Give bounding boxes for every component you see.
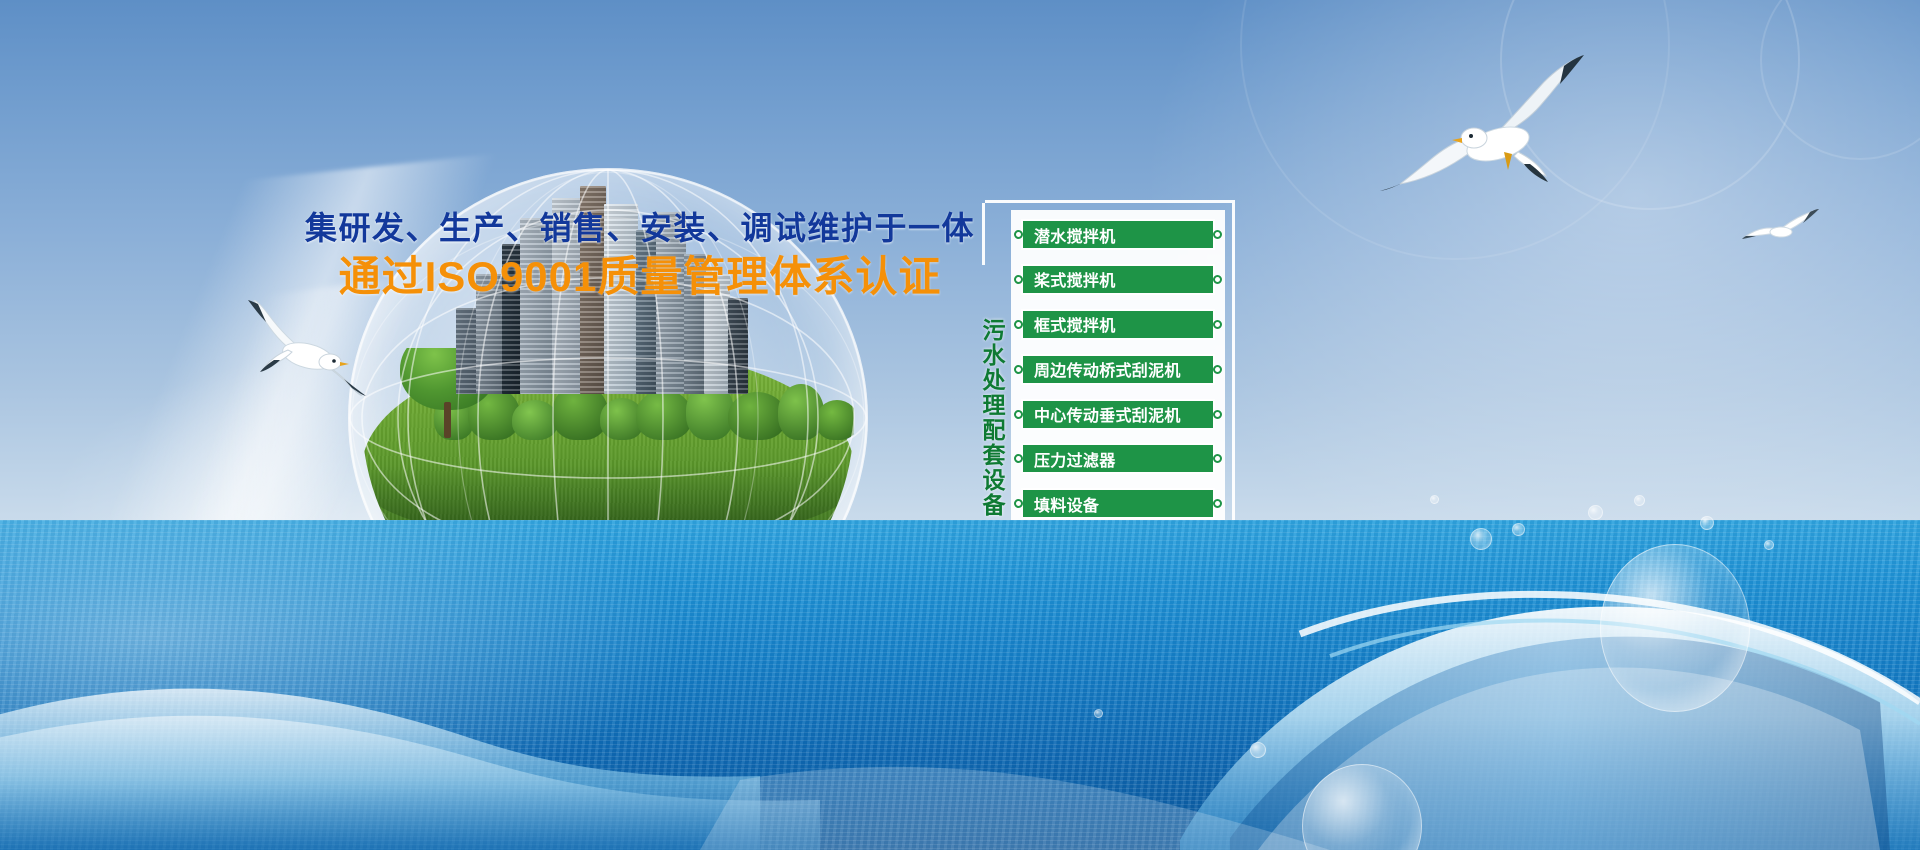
connector-nub-icon (1213, 320, 1222, 329)
menu-item-kuangshi-jiaobanji[interactable]: 框式搅拌机 (1021, 309, 1215, 340)
menu-item-label: 潜水搅拌机 (1034, 223, 1116, 247)
water-bubble (1470, 528, 1492, 550)
water-bubble (1512, 523, 1525, 536)
menu-item-zhoubian-chuandong-guanijii[interactable]: 周边传动桥式刮泥机 (1021, 354, 1215, 385)
menu-item-qianshui-jiaobanji[interactable]: 潜水搅拌机 (1021, 219, 1215, 250)
water-bubble (1764, 540, 1774, 550)
seagull-flying-large (1378, 52, 1610, 192)
water-bubble (1094, 709, 1103, 718)
water-scene (0, 420, 1920, 850)
water-bubble (1600, 544, 1750, 712)
connector-nub-icon (1213, 230, 1222, 239)
menu-item-label: 框式搅拌机 (1034, 312, 1116, 336)
hero-banner: 集研发、生产、销售、安装、调试维护于一体 通过ISO9001质量管理体系认证 污… (0, 0, 1920, 850)
menu-item-label: 周边传动桥式刮泥机 (1034, 357, 1181, 381)
seagull-flying-small (1742, 204, 1820, 250)
water-bubble (1588, 505, 1603, 520)
headline-line-2: 通过ISO9001质量管理体系认证 (300, 252, 980, 302)
connector-nub-icon (1213, 365, 1222, 374)
connector-nub-icon (1213, 275, 1222, 284)
menu-item-label: 桨式搅拌机 (1034, 267, 1116, 291)
water-bubble (1250, 742, 1266, 758)
seagull-flying-left (248, 300, 368, 396)
connector-nub-icon (1014, 230, 1023, 239)
water-bubble (1634, 495, 1645, 506)
connector-nub-icon (1014, 365, 1023, 374)
connector-nub-icon (1014, 410, 1023, 419)
connector-nub-icon (1014, 320, 1023, 329)
connector-nub-icon (1014, 275, 1023, 284)
water-bubble (1700, 516, 1714, 530)
connector-nub-icon (1213, 410, 1222, 419)
menu-item-jiangshi-jiaobanji[interactable]: 桨式搅拌机 (1021, 264, 1215, 295)
water-bubble (1430, 495, 1439, 504)
headline-block: 集研发、生产、销售、安装、调试维护于一体 通过ISO9001质量管理体系认证 (300, 208, 980, 302)
headline-line-1: 集研发、生产、销售、安装、调试维护于一体 (300, 208, 980, 248)
